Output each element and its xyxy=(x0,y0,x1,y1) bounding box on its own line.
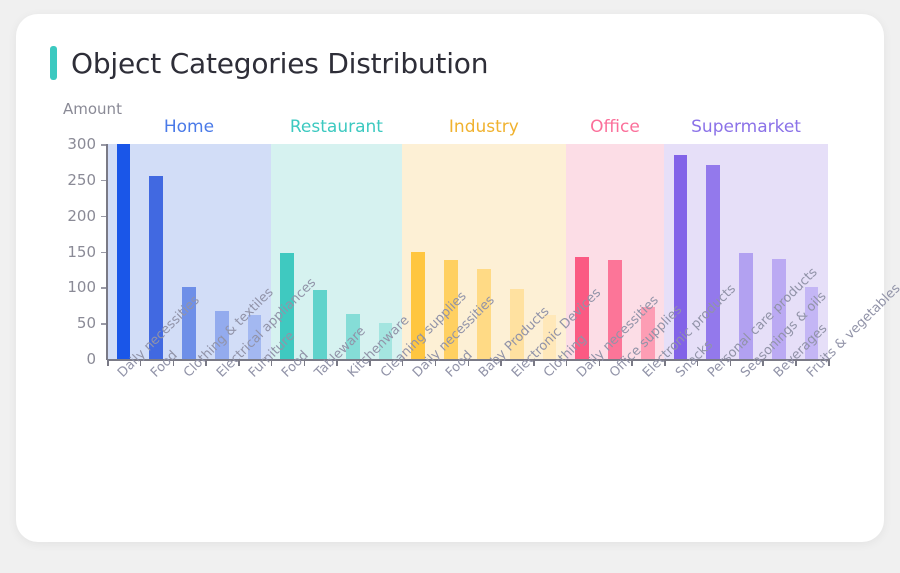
y-tick-label: 100 xyxy=(56,278,96,296)
y-tick xyxy=(101,252,106,254)
x-tick xyxy=(566,359,568,366)
x-tick xyxy=(828,359,830,366)
bar[interactable] xyxy=(313,290,327,359)
y-tick xyxy=(101,144,106,146)
x-tick xyxy=(599,359,601,366)
y-tick xyxy=(101,287,106,289)
group-label-supermarket: Supermarket xyxy=(691,117,801,137)
page-title: Object Categories Distribution xyxy=(71,47,488,80)
chart-card: Object Categories Distribution Amount 05… xyxy=(16,14,884,542)
x-tick xyxy=(500,359,502,366)
group-label-restaurant: Restaurant xyxy=(290,117,383,137)
y-tick-label: 250 xyxy=(56,171,96,189)
x-tick xyxy=(238,359,240,366)
group-label-industry: Industry xyxy=(449,117,519,137)
y-tick-label: 0 xyxy=(56,350,96,368)
x-tick xyxy=(697,359,699,366)
y-axis-line xyxy=(106,144,108,360)
x-tick xyxy=(533,359,535,366)
x-tick xyxy=(304,359,306,366)
x-tick xyxy=(336,359,338,366)
x-tick xyxy=(468,359,470,366)
bar[interactable] xyxy=(117,144,131,359)
group-label-office: Office xyxy=(590,117,640,137)
y-tick-label: 150 xyxy=(56,243,96,261)
y-tick-label: 300 xyxy=(56,135,96,153)
group-label-home: Home xyxy=(164,117,214,137)
x-tick xyxy=(402,359,404,366)
x-tick xyxy=(762,359,764,366)
x-tick xyxy=(140,359,142,366)
x-tick xyxy=(730,359,732,366)
y-axis-tick-labels: 050100150200250300 xyxy=(50,14,96,573)
x-tick xyxy=(664,359,666,366)
x-tick xyxy=(631,359,633,366)
y-tick-label: 50 xyxy=(56,314,96,332)
title-row: Object Categories Distribution xyxy=(50,46,488,80)
x-tick xyxy=(369,359,371,366)
y-tick xyxy=(101,216,106,218)
x-tick xyxy=(107,359,109,366)
x-tick xyxy=(271,359,273,366)
y-tick xyxy=(101,180,106,182)
x-tick xyxy=(173,359,175,366)
y-tick-label: 200 xyxy=(56,207,96,225)
bar[interactable] xyxy=(706,165,720,359)
x-tick xyxy=(435,359,437,366)
x-tick xyxy=(795,359,797,366)
y-tick xyxy=(101,323,106,325)
x-tick xyxy=(205,359,207,366)
